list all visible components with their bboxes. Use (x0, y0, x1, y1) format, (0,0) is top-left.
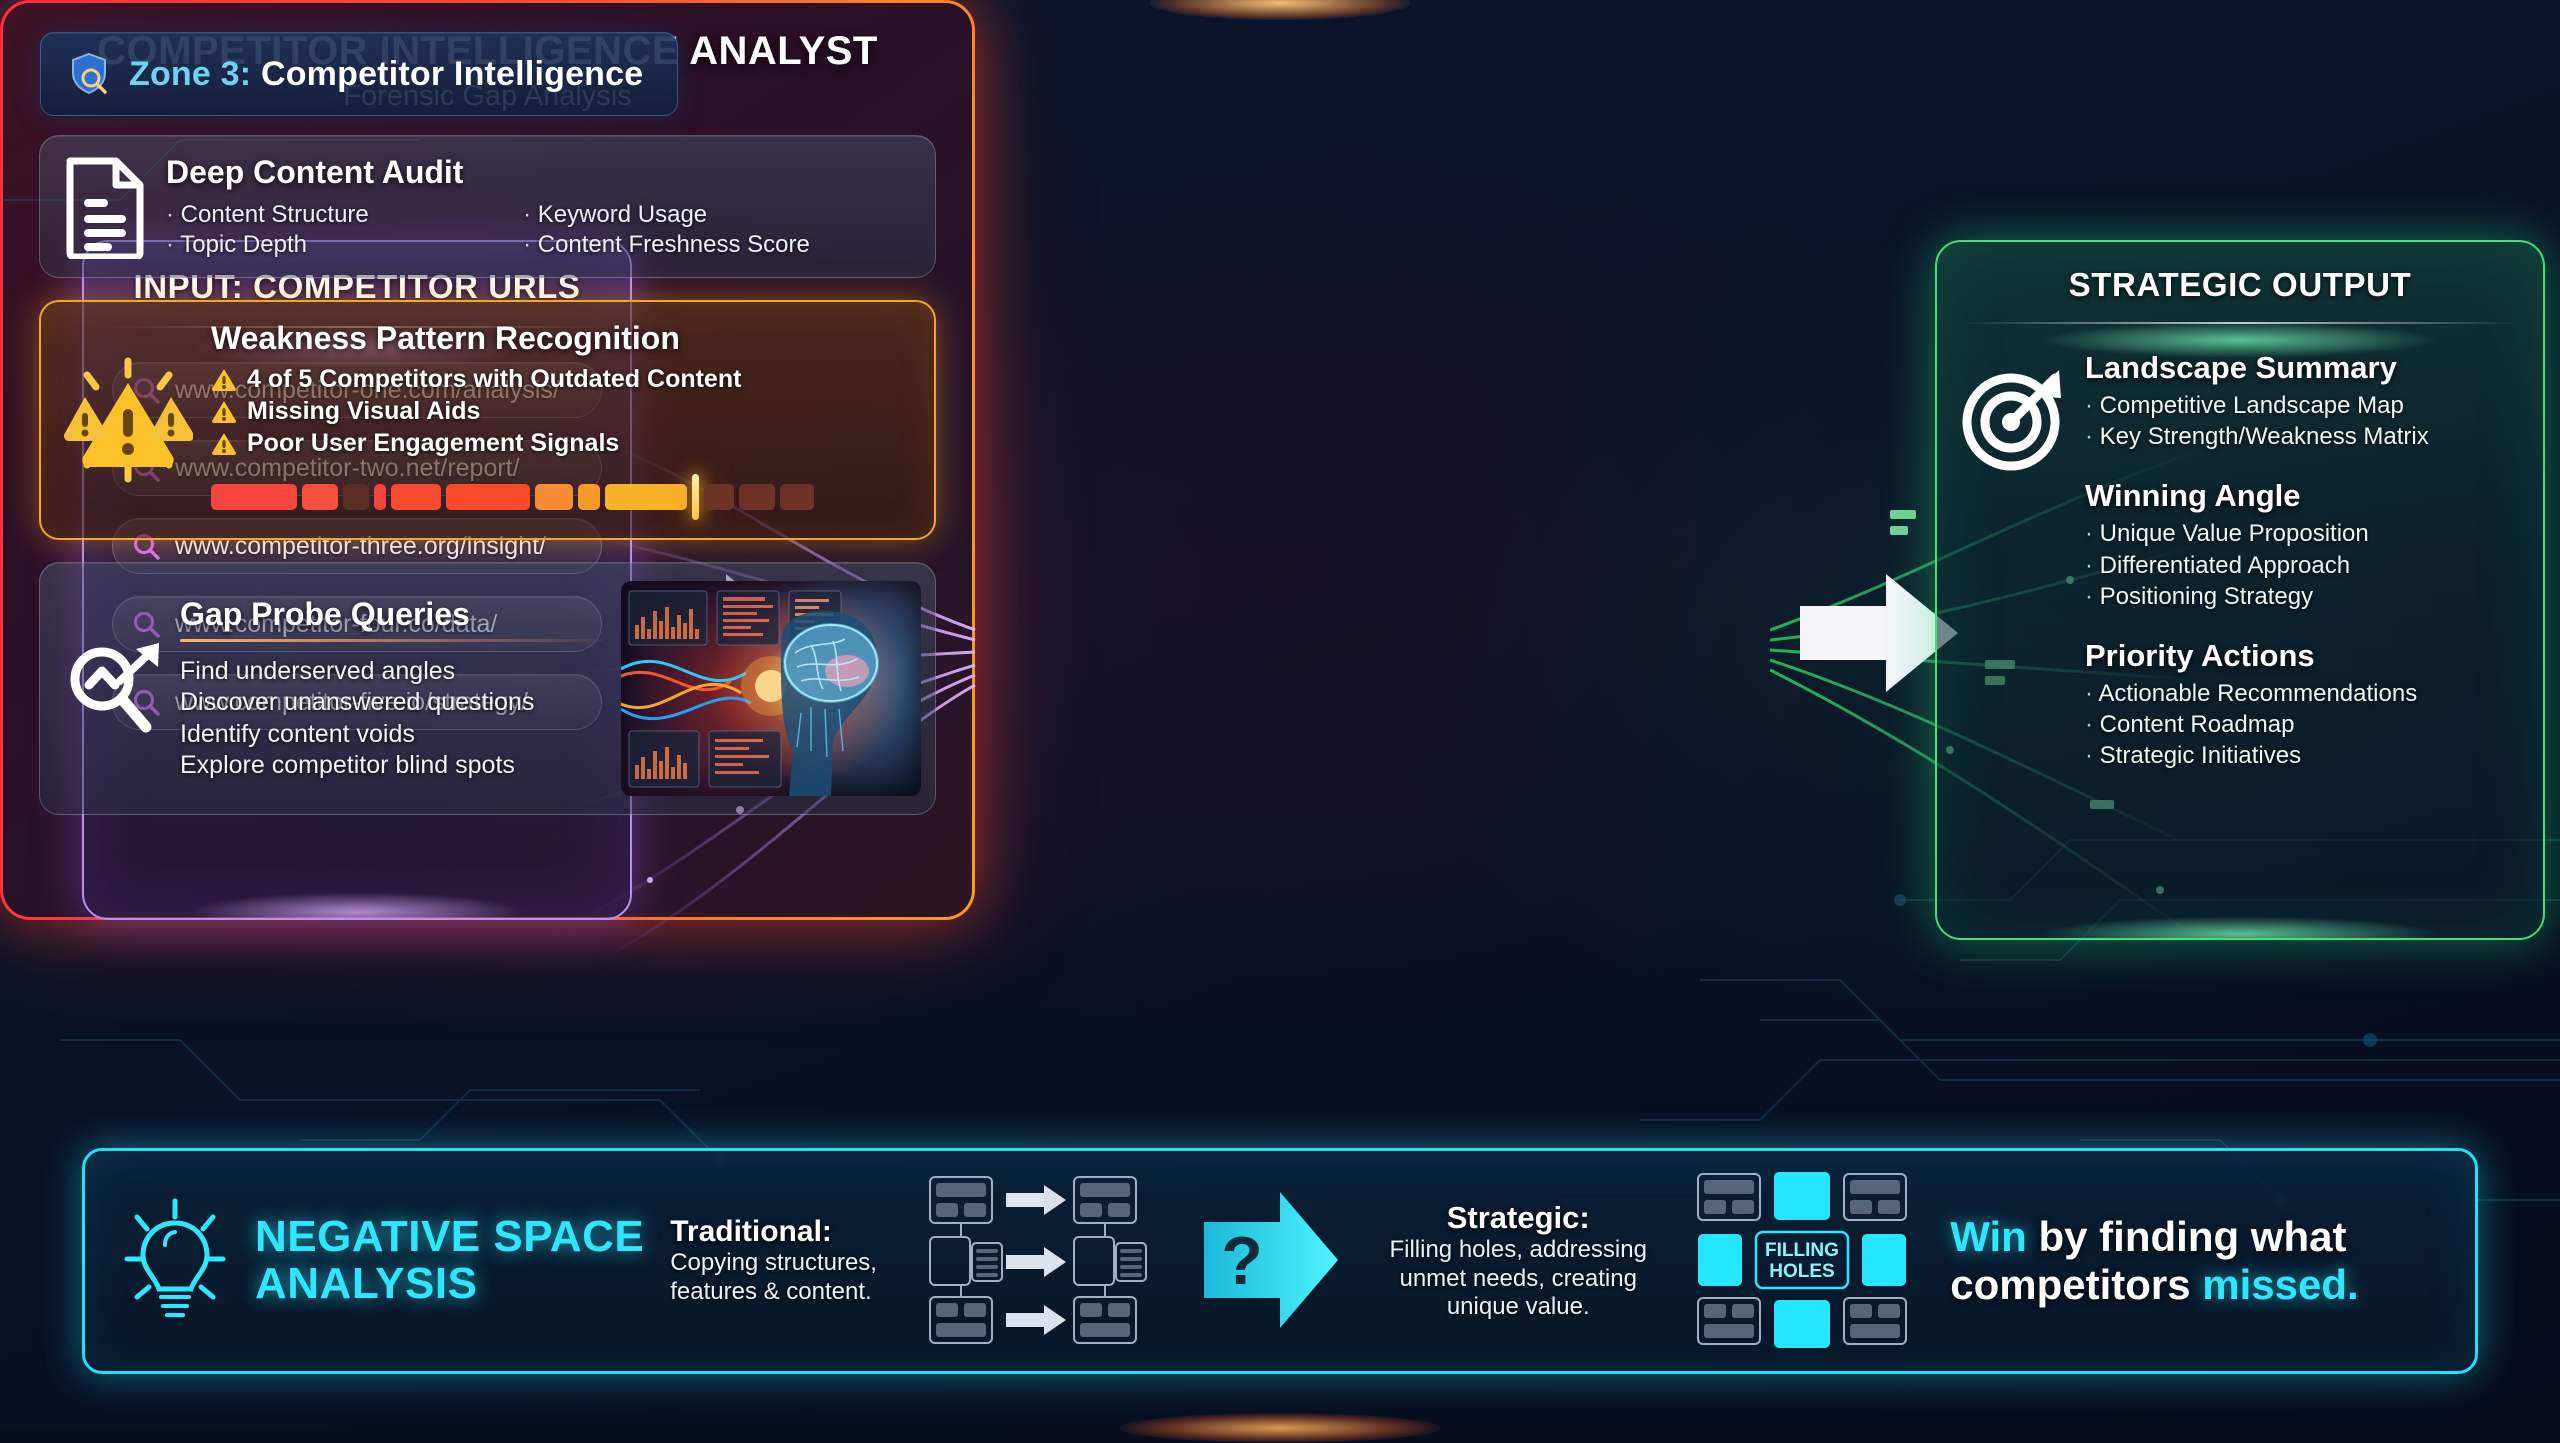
gap-probe-line: Identify content voids (180, 719, 603, 751)
strategic-block: Strategic: Filling holes, addressing unm… (1368, 1200, 1668, 1322)
output-groups: Landscape Summary Competitive Landscape … (2085, 350, 2517, 798)
weakness-text: 4 of 5 Competitors with Outdated Content (247, 365, 741, 394)
group-item: Actionable Recommendations (2085, 678, 2517, 709)
shield-search-icon (67, 51, 113, 97)
document-icon (62, 155, 148, 259)
card-title: Weakness Pattern Recognition (211, 320, 912, 357)
severity-segment (374, 484, 386, 510)
weakness-item: 4 of 5 Competitors with Outdated Content (211, 365, 912, 394)
tagline-mid1: by finding what (2027, 1213, 2347, 1260)
severity-segment (704, 484, 734, 510)
zone-badge-title: Zone 3: Competitor Intelligence (129, 55, 643, 94)
bullet: Content Structure (166, 201, 505, 229)
infographic-canvas: Zone 3: Competitor Intelligence INPUT: C… (0, 0, 2560, 1429)
strategic-label: Strategic: (1368, 1200, 1668, 1236)
strategic-desc-3: unique value. (1368, 1293, 1668, 1322)
group-item: Competitive Landscape Map (2085, 390, 2517, 421)
group-item: Strategic Initiatives (2085, 740, 2517, 771)
severity-segment (343, 484, 369, 510)
gap-probe-line: Discover unanswered questions (180, 687, 603, 719)
warning-bullet-icon (211, 400, 237, 424)
weakness-list: 4 of 5 Competitors with Outdated Content… (211, 365, 912, 458)
panel-bottom-glow (1120, 1413, 1440, 1443)
bullet: Keyword Usage (523, 201, 913, 229)
severity-segment (780, 484, 814, 510)
panel-top-glow (1150, 0, 1410, 20)
output-panel-header: STRATEGIC OUTPUT (1937, 242, 2543, 324)
group-item: Differentiated Approach (2085, 550, 2517, 581)
deep-content-audit-card: Deep Content Audit Content Structure Key… (39, 135, 936, 278)
severity-segment (535, 484, 573, 510)
ns-line-2: ANALYSIS (255, 1261, 644, 1308)
output-content: Landscape Summary Competitive Landscape … (1937, 324, 2543, 798)
filling-holes-line-1: FILLING (1765, 1240, 1839, 1261)
tagline-win: Win (1950, 1213, 2027, 1260)
negative-space-title: NEGATIVE SPACE ANALYSIS (255, 1214, 644, 1307)
warning-bullet-icon (211, 432, 237, 456)
zone-badge: Zone 3: Competitor Intelligence (40, 32, 678, 116)
warning-bullet-icon (211, 368, 237, 392)
negative-space-banner: NEGATIVE SPACE ANALYSIS Traditional: Cop… (82, 1148, 2478, 1374)
traditional-block: Traditional: Copying structures, feature… (670, 1215, 900, 1307)
weakness-pattern-card: Weakness Pattern Recognition 4 of 5 Comp… (39, 300, 936, 540)
group-items: Competitive Landscape Map Key Strength/W… (2085, 390, 2517, 452)
card-title: Deep Content Audit (166, 154, 913, 191)
divider (180, 639, 603, 642)
panel-glow-bottom (188, 892, 527, 920)
group-item: Positioning Strategy (2085, 581, 2517, 612)
strategic-desc-2: unmet needs, creating (1368, 1265, 1668, 1294)
ai-brain-dashboard-image (621, 581, 921, 796)
banner-tagline: Win by finding what competitors missed. (1950, 1213, 2358, 1310)
gap-probe-card: Gap Probe Queries Find underserved angle… (39, 562, 936, 815)
filling-holes-diagram: FILLING HOLES (1694, 1166, 1914, 1356)
severity-progress-bar (211, 474, 912, 520)
severity-segment (302, 484, 338, 510)
group-item: Content Roadmap (2085, 709, 2517, 740)
weakness-text: Missing Visual Aids (247, 397, 480, 426)
severity-segment (605, 484, 687, 510)
output-group: Landscape Summary Competitive Landscape … (2085, 350, 2517, 452)
weakness-text: Poor User Engagement Signals (247, 429, 619, 458)
group-item: Unique Value Proposition (2085, 518, 2517, 549)
audit-bullets: Content Structure Keyword Usage Topic De… (166, 201, 913, 259)
question-mark-glyph: ? (1221, 1223, 1263, 1299)
output-panel: STRATEGIC OUTPUT Landscape Summary Compe… (1935, 240, 2545, 940)
strategic-desc-1: Filling holes, addressing (1368, 1236, 1668, 1265)
copy-arrow-icon (1006, 1185, 1066, 1335)
bullet: Topic Depth (166, 231, 505, 259)
group-title: Winning Angle (2085, 478, 2517, 514)
weakness-item: Poor User Engagement Signals (211, 429, 912, 458)
gap-probe-list: Find underserved angles Discover unanswe… (180, 656, 603, 782)
weakness-item: Missing Visual Aids (211, 397, 912, 426)
severity-segment (391, 484, 441, 510)
zone-badge-name: Competitor Intelligence (261, 55, 643, 93)
group-item: Key Strength/Weakness Matrix (2085, 421, 2517, 452)
traditional-desc-2: features & content. (670, 1278, 900, 1307)
traditional-copy-diagram (926, 1171, 1176, 1351)
lightbulb-icon (121, 1197, 229, 1325)
output-group: Priority Actions Actionable Recommendati… (2085, 638, 2517, 772)
gap-probe-line: Explore competitor blind spots (180, 750, 603, 782)
filling-holes-line-2: HOLES (1769, 1261, 1834, 1282)
card-title: Gap Probe Queries (180, 596, 603, 633)
gap-probe-line: Find underserved angles (180, 656, 603, 688)
group-items: Actionable Recommendations Content Roadm… (2085, 678, 2517, 772)
bullet: Content Freshness Score (523, 231, 913, 259)
analyst-panel: COMPETITOR INTELLIGENCE ANALYST Forensic… (0, 0, 975, 920)
severity-marker (692, 474, 699, 520)
magnifier-arrow-icon (62, 637, 162, 741)
traditional-desc-1: Copying structures, (670, 1249, 900, 1278)
group-title: Priority Actions (2085, 638, 2517, 674)
group-items: Unique Value Proposition Differentiated … (2085, 518, 2517, 612)
ns-line-1: NEGATIVE SPACE (255, 1214, 644, 1261)
severity-segment (578, 484, 600, 510)
question-arrow-icon: ? (1202, 1186, 1342, 1336)
tagline-missed: missed. (2202, 1261, 2358, 1308)
traditional-label: Traditional: (670, 1215, 900, 1249)
target-arrow-icon (1959, 364, 2071, 476)
zone-badge-prefix: Zone 3: (129, 55, 251, 93)
output-group: Winning Angle Unique Value Proposition D… (2085, 478, 2517, 612)
severity-segment (446, 484, 530, 510)
tagline-mid2: competitors (1950, 1261, 2202, 1308)
warning-triangle-icon (63, 357, 193, 483)
severity-segment (739, 484, 775, 510)
group-title: Landscape Summary (2085, 350, 2517, 386)
severity-segment (211, 484, 297, 510)
panel-glow-bottom (2040, 916, 2440, 940)
